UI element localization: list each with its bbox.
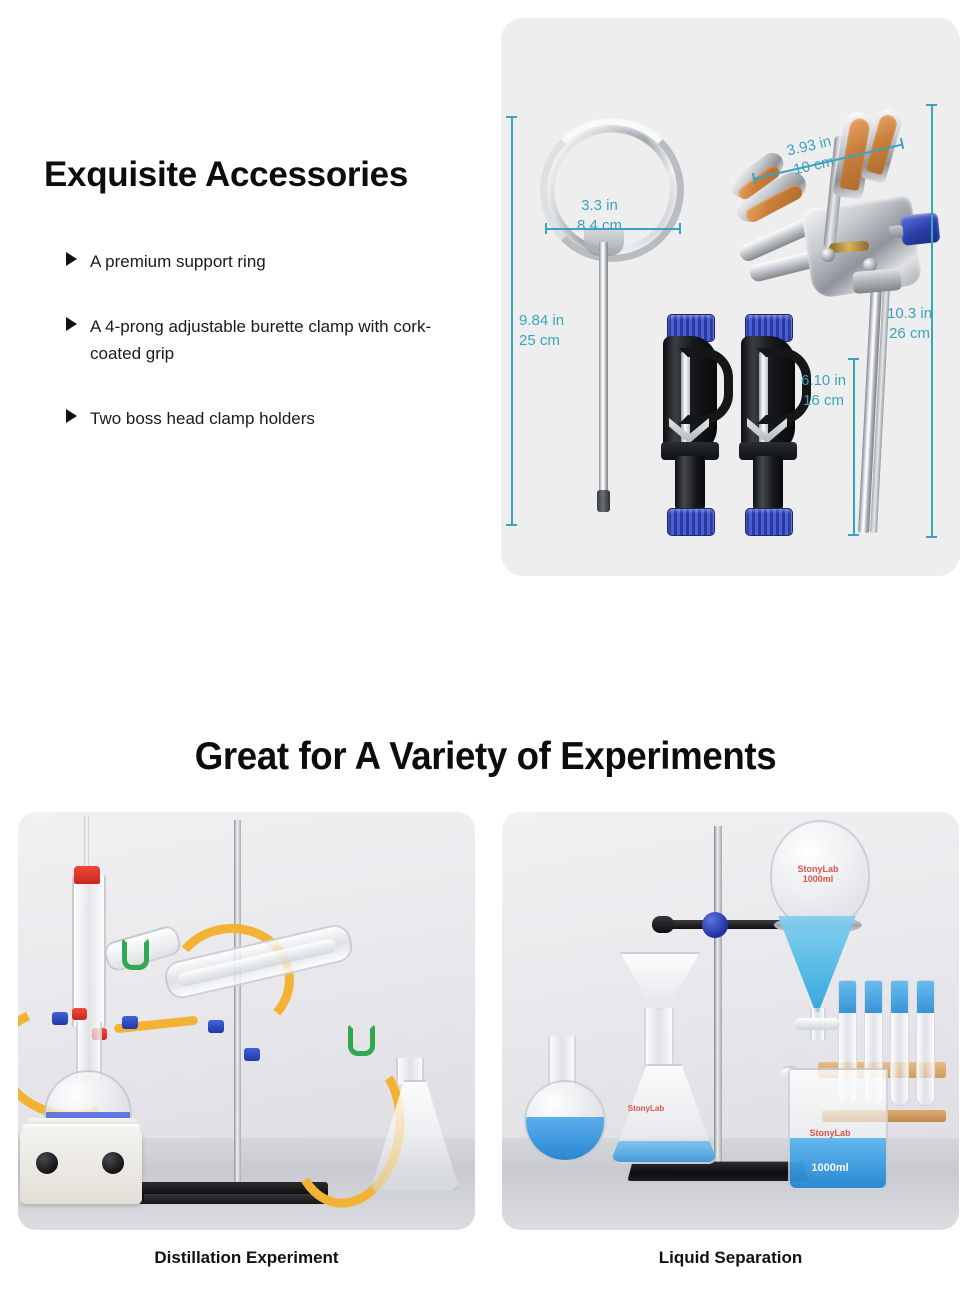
list-item: A 4-prong adjustable burette clamp with … bbox=[66, 313, 476, 368]
flask-liquid bbox=[526, 1117, 604, 1160]
boss-head-clamp-1 bbox=[661, 314, 719, 534]
support-stand-rod bbox=[714, 826, 722, 1174]
clamp-thumbscrew bbox=[900, 212, 941, 246]
stirrer-heat-knob bbox=[102, 1152, 124, 1174]
brand-text: StonyLab bbox=[797, 864, 838, 874]
volume-text: 1000ml bbox=[803, 874, 834, 884]
dimension-label-clamp-height: 10.3 in 26 cm bbox=[887, 304, 932, 344]
product-infographic-page: Exquisite Accessories A premium support … bbox=[0, 0, 971, 1300]
beaker-brand-label: StonyLab bbox=[802, 1128, 858, 1138]
blue-joint-clip-icon bbox=[244, 1048, 260, 1061]
clamp-pivot bbox=[821, 248, 835, 262]
flask-neck bbox=[548, 1036, 576, 1086]
liquid-separation-photo: StonyLab 1000ml StonyLab StonyLab 1000m bbox=[502, 812, 959, 1230]
boss-clamp-hook bbox=[679, 348, 733, 424]
dimension-value-cm: 16 cm bbox=[803, 392, 844, 409]
dimension-value-cm: 26 cm bbox=[889, 325, 930, 342]
photo-caption-liquid-separation: Liquid Separation bbox=[502, 1248, 959, 1268]
red-joint-clip bbox=[74, 866, 100, 884]
dimension-line-rod-length bbox=[853, 358, 855, 536]
dimension-label-ring-diameter: 3.3 in 8.4 cm bbox=[577, 196, 622, 236]
dimension-cap bbox=[545, 223, 547, 234]
green-joint-clip-icon bbox=[122, 938, 149, 970]
dimension-label-rod-length: 6.10 in 16 cm bbox=[801, 371, 846, 411]
list-item: Two boss head clamp holders bbox=[66, 405, 476, 433]
dimension-cap bbox=[926, 536, 937, 538]
test-tube-liquid bbox=[891, 981, 908, 1013]
distillation-experiment-photo bbox=[18, 812, 475, 1230]
blue-joint-clip-icon bbox=[52, 1012, 68, 1025]
blue-joint-clip-icon bbox=[208, 1020, 224, 1033]
dimension-line-ring-height bbox=[511, 116, 513, 526]
dimension-value-cm: 8.4 cm bbox=[577, 217, 622, 234]
dimension-cap bbox=[926, 104, 937, 106]
round-bottom-flask bbox=[524, 1080, 606, 1162]
triangle-bullet-icon bbox=[66, 409, 77, 423]
dimension-cap bbox=[679, 223, 681, 234]
dimension-cap bbox=[506, 116, 517, 118]
triangle-bullet-icon bbox=[66, 317, 77, 331]
flask-liquid bbox=[612, 1141, 716, 1162]
photo-caption-distillation: Distillation Experiment bbox=[18, 1248, 475, 1268]
test-tube bbox=[890, 980, 909, 1106]
distillation-column bbox=[72, 874, 106, 1028]
stirrer-speed-knob bbox=[36, 1152, 58, 1174]
product-photo-panel: 3.3 in 8.4 cm 9.84 in 25 cm 3.93 in 10 c bbox=[501, 18, 960, 576]
test-tube-liquid bbox=[917, 981, 934, 1013]
flask-brand-label: StonyLab bbox=[626, 1104, 666, 1113]
boss-clamp-lower-body bbox=[675, 456, 705, 510]
blue-joint-clip-icon bbox=[122, 1016, 138, 1029]
dimension-value-inches: 3.3 in bbox=[581, 197, 618, 214]
section-heading: Great for A Variety of Experiments bbox=[29, 735, 942, 779]
support-ring-tip bbox=[597, 490, 610, 512]
erlenmeyer-neck bbox=[644, 1008, 674, 1068]
separatory-funnel-brand-label: StonyLab 1000ml bbox=[790, 864, 846, 885]
dimension-cap bbox=[848, 358, 859, 360]
feature-text: A premium support ring bbox=[90, 248, 266, 276]
page-title: Exquisite Accessories bbox=[44, 155, 408, 195]
exquisite-accessories-section: Exquisite Accessories A premium support … bbox=[0, 0, 971, 600]
boss-head-knob-icon bbox=[702, 912, 728, 938]
support-stand-base bbox=[627, 1162, 808, 1181]
support-arm-cap bbox=[652, 916, 674, 933]
beaker-volume-label: 1000ml bbox=[802, 1162, 858, 1175]
dimension-value-inches: 9.84 in bbox=[519, 312, 564, 329]
dimension-cap bbox=[506, 524, 517, 526]
support-stand-base-edge bbox=[144, 1194, 324, 1204]
feature-text: Two boss head clamp holders bbox=[90, 405, 315, 433]
boss-knob-bottom-icon bbox=[667, 508, 715, 536]
clamp-collar bbox=[852, 268, 902, 294]
green-joint-clip-icon bbox=[348, 1024, 375, 1056]
support-ring-stem bbox=[599, 242, 608, 497]
feature-text: A 4-prong adjustable burette clamp with … bbox=[90, 313, 455, 368]
list-item: A premium support ring bbox=[66, 248, 476, 276]
dimension-value-cm: 25 cm bbox=[519, 332, 560, 349]
test-tube bbox=[916, 980, 935, 1106]
dimension-value-inches: 10.3 in bbox=[887, 305, 932, 322]
test-tube-liquid bbox=[865, 981, 882, 1013]
separatory-funnel-stopcock bbox=[794, 1018, 840, 1030]
red-joint-clip-icon bbox=[72, 1008, 87, 1020]
dimension-cap bbox=[848, 534, 859, 536]
feature-list: A premium support ring A 4-prong adjusta… bbox=[66, 248, 476, 469]
triangle-bullet-icon bbox=[66, 252, 77, 266]
dimension-value-inches: 6.10 in bbox=[801, 372, 846, 389]
test-tube-liquid bbox=[839, 981, 856, 1013]
dimension-label-ring-height: 9.84 in 25 cm bbox=[519, 311, 564, 351]
